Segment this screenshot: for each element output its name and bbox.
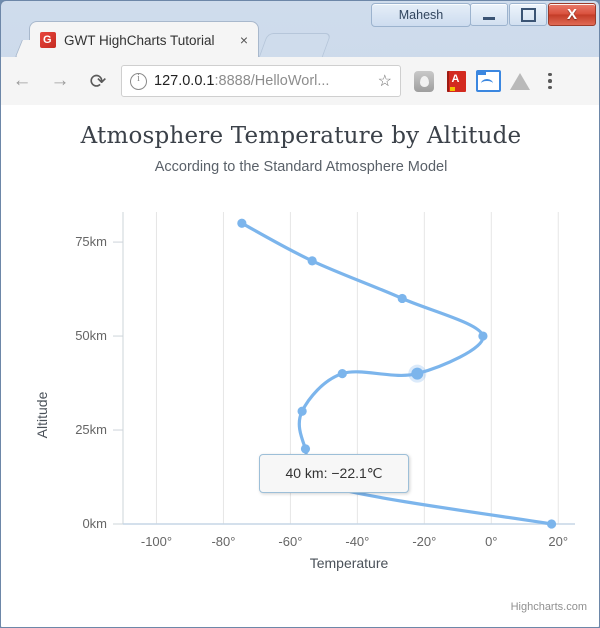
data-point[interactable] xyxy=(478,331,487,340)
data-point[interactable] xyxy=(338,369,347,378)
x-tick-label: -40° xyxy=(345,534,369,549)
minimize-button[interactable] xyxy=(470,3,508,26)
y-tick-label: 50km xyxy=(75,328,107,343)
x-tick-label: -80° xyxy=(211,534,235,549)
new-tab-button[interactable] xyxy=(258,33,331,58)
x-axis-title: Temperature xyxy=(310,555,389,571)
back-arrow-icon: ← xyxy=(13,70,32,92)
x-tick-label: 0° xyxy=(485,534,497,549)
user-profile-label: Mahesh xyxy=(399,8,443,22)
blue-folder-icon xyxy=(476,70,501,92)
url-text: 127.0.0.1:8888/HelloWorl... xyxy=(154,73,329,89)
chrome-menu-button[interactable] xyxy=(537,66,563,96)
bookmark-star-icon[interactable]: ☆ xyxy=(378,71,392,91)
page-content: Atmosphere Temperature by Altitude Accor… xyxy=(1,105,600,628)
forward-button[interactable]: → xyxy=(43,64,77,98)
y-tick-label: 0km xyxy=(82,516,107,531)
minimize-icon xyxy=(483,17,495,20)
chart-tooltip: 40 km: −22.1℃ xyxy=(259,454,409,493)
chart-plot: -100°-80°-60°-40°-20°0°20° 0km25km50km75… xyxy=(1,105,600,628)
close-button[interactable]: X xyxy=(548,3,596,26)
gwt-favicon-icon xyxy=(40,32,56,48)
kebab-dot-icon xyxy=(548,79,552,83)
drive-triangle-icon xyxy=(510,73,530,90)
extension-shield-button[interactable] xyxy=(409,66,439,96)
data-point[interactable] xyxy=(237,219,246,228)
extension-adobe-button[interactable] xyxy=(441,66,471,96)
data-point[interactable] xyxy=(301,444,310,453)
browser-window: Mahesh X GWT HighCharts Tutorial × ← → xyxy=(0,0,600,628)
highcharts-credit: Highcharts.com xyxy=(511,601,587,613)
site-info-icon[interactable] xyxy=(130,73,147,90)
reload-icon: ⟳ xyxy=(90,69,107,94)
forward-arrow-icon: → xyxy=(51,70,70,92)
browser-toolbar: ← → ⟳ 127.0.0.1:8888/HelloWorl... ☆ xyxy=(1,57,600,106)
kebab-dot-icon xyxy=(548,86,552,90)
extension-folder-button[interactable] xyxy=(473,66,503,96)
data-point[interactable] xyxy=(547,519,556,528)
back-button[interactable]: ← xyxy=(5,64,39,98)
x-tick-label: -60° xyxy=(278,534,302,549)
maximize-button[interactable] xyxy=(509,3,547,26)
kebab-dot-icon xyxy=(548,73,552,77)
window-controls: X xyxy=(469,3,596,26)
tab-close-icon[interactable]: × xyxy=(240,33,248,47)
address-bar[interactable]: 127.0.0.1:8888/HelloWorl... ☆ xyxy=(121,65,401,97)
y-tick-label: 75km xyxy=(75,234,107,249)
x-tick-label: 20° xyxy=(548,534,568,549)
maximize-icon xyxy=(521,8,536,22)
reload-button[interactable]: ⟳ xyxy=(81,64,115,98)
close-icon: X xyxy=(567,7,577,22)
data-point[interactable] xyxy=(308,256,317,265)
red-book-icon xyxy=(447,71,466,92)
x-tick-label: -20° xyxy=(412,534,436,549)
y-tick-label: 25km xyxy=(75,422,107,437)
tab-title: GWT HighCharts Tutorial xyxy=(64,33,215,48)
y-axis-title: Altitude xyxy=(34,391,50,438)
shield-icon xyxy=(414,71,434,92)
y-tick-labels: 0km25km50km75km xyxy=(75,234,123,531)
data-point[interactable] xyxy=(411,368,423,380)
url-path: :8888/HelloWorl... xyxy=(214,73,329,89)
data-point[interactable] xyxy=(398,294,407,303)
url-host: 127.0.0.1 xyxy=(154,73,214,89)
extension-drive-button[interactable] xyxy=(505,66,535,96)
browser-tab[interactable]: GWT HighCharts Tutorial × xyxy=(29,21,259,58)
data-point[interactable] xyxy=(298,407,307,416)
title-bar: Mahesh X GWT HighCharts Tutorial × xyxy=(1,1,600,57)
user-profile-button[interactable]: Mahesh xyxy=(371,3,471,27)
tooltip-text: 40 km: −22.1℃ xyxy=(285,465,382,482)
x-tick-label: -100° xyxy=(141,534,172,549)
x-tick-labels: -100°-80°-60°-40°-20°0°20° xyxy=(141,534,568,549)
